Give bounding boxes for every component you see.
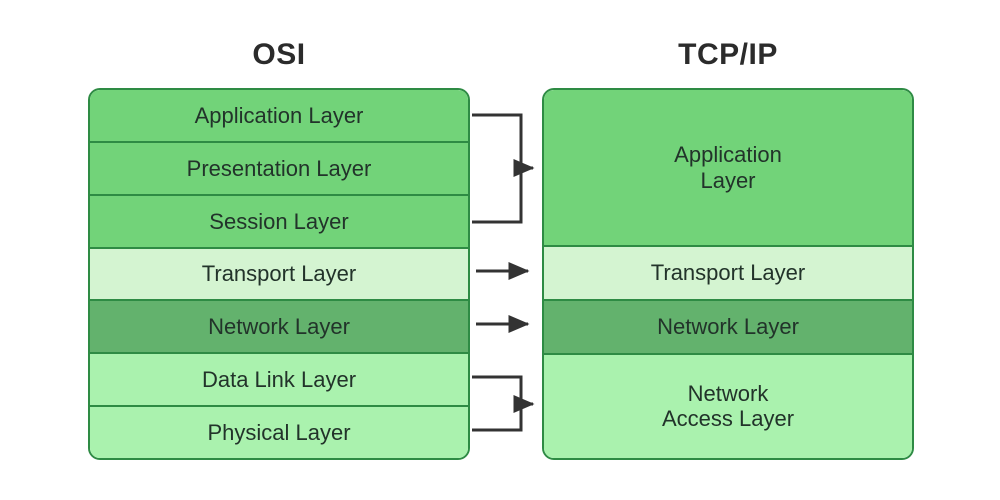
osi-layer-presentation[interactable]: Presentation Layer [90, 143, 468, 196]
osi-layer-network[interactable]: Network Layer [90, 301, 468, 354]
tcpip-layer-network-label: Network Layer [657, 314, 799, 339]
osi-layer-session[interactable]: Session Layer [90, 196, 468, 249]
osi-layer-physical-label: Physical Layer [207, 420, 350, 445]
tcpip-layer-network-access-label: Network Access Layer [662, 381, 794, 432]
osi-layer-stack: Application Layer Presentation Layer Ses… [88, 88, 470, 460]
bracket-application [472, 115, 521, 222]
osi-layer-network-label: Network Layer [208, 314, 350, 339]
osi-layer-transport[interactable]: Transport Layer [90, 249, 468, 302]
osi-layer-presentation-label: Presentation Layer [187, 156, 372, 181]
osi-layer-data-link[interactable]: Data Link Layer [90, 354, 468, 407]
osi-layer-data-link-label: Data Link Layer [202, 367, 356, 392]
tcpip-layer-application-label-line1: Application [674, 142, 782, 167]
tcpip-layer-transport-label: Transport Layer [651, 260, 805, 285]
tcpip-layer-stack: Application Layer Transport Layer Networ… [542, 88, 914, 460]
tcpip-layer-application-label: Application Layer [674, 142, 782, 193]
tcpip-layer-network-access[interactable]: Network Access Layer [544, 355, 912, 458]
tcpip-layer-network[interactable]: Network Layer [544, 301, 912, 355]
osi-layer-session-label: Session Layer [209, 209, 348, 234]
connector-application-group [472, 115, 533, 222]
tcpip-stack-title: TCP/IP [542, 40, 914, 70]
tcpip-layer-application[interactable]: Application Layer [544, 90, 912, 247]
tcpip-layer-transport[interactable]: Transport Layer [544, 247, 912, 301]
tcpip-layer-application-label-line2: Layer [700, 168, 755, 193]
osi-layer-application[interactable]: Application Layer [90, 90, 468, 143]
osi-stack-title: OSI [88, 40, 470, 70]
osi-layer-transport-label: Transport Layer [202, 261, 356, 286]
tcpip-layer-network-access-label-line2: Access Layer [662, 406, 794, 431]
osi-layer-application-label: Application Layer [195, 103, 364, 128]
osi-layer-physical[interactable]: Physical Layer [90, 407, 468, 458]
bracket-network-access [472, 377, 521, 430]
tcpip-layer-network-access-label-line1: Network [688, 381, 769, 406]
connector-network-access-group [472, 377, 533, 430]
osi-tcpip-comparison-diagram: OSI TCP/IP Application Layer Presentatio… [0, 0, 1000, 500]
